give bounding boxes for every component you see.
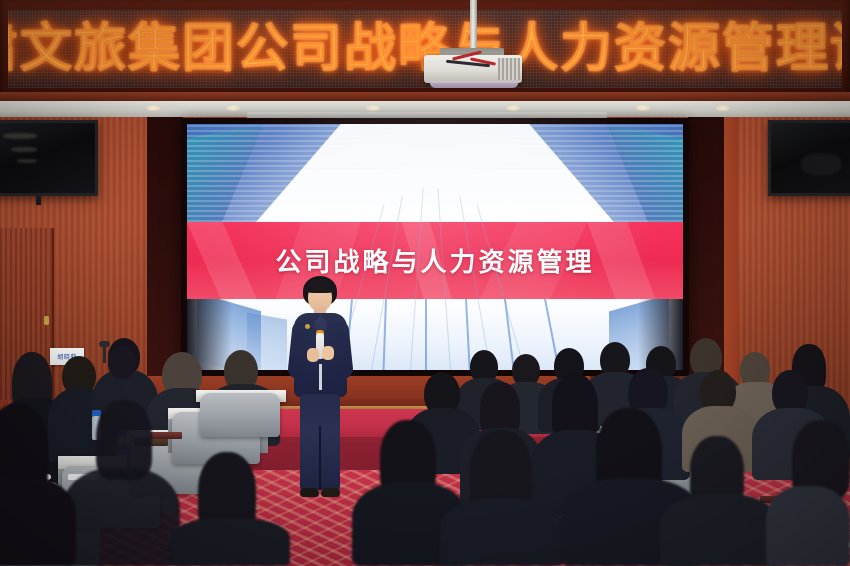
attendee-body-foreground [0, 476, 76, 566]
presenter-shoe-right [321, 488, 340, 497]
ceiling-downlight [366, 105, 380, 111]
ceiling-downlight [506, 105, 520, 111]
led-banner-frame: 甘肃文旅集团公司战略与人力资源管理讲座 [0, 0, 850, 100]
attendee-body-foreground [766, 486, 850, 566]
attendee-head [108, 346, 136, 379]
ceiling-downlight [146, 105, 160, 111]
attendee-body-foreground [660, 494, 780, 566]
presenter [278, 276, 362, 506]
table-microphone-stand [103, 345, 106, 363]
notebook [150, 432, 182, 439]
slide-title: 公司战略与人力资源管理 [187, 222, 683, 298]
presenter-leg-seam [319, 426, 321, 490]
monitor-stalk-left [36, 196, 41, 205]
display-monitor-right [768, 120, 850, 196]
display-monitor-left [0, 120, 98, 196]
presenter-hand-left [307, 348, 319, 362]
presenter-shoe-left [300, 488, 319, 497]
presenter-lanyard [319, 364, 322, 390]
led-banner-rail [0, 92, 850, 101]
presenter-pin-icon [305, 324, 310, 329]
projection-screen: 公司战略与人力资源管理 [187, 124, 683, 370]
door-handle-icon[interactable] [44, 316, 49, 325]
table-microphone-head [99, 341, 110, 347]
presenter-fringe [304, 280, 336, 293]
presenter-hand-right [322, 346, 334, 360]
conference-hall-photo: 甘肃文旅集团公司战略与人力资源管理讲座 公司战略与人力资源管理 [0, 0, 850, 566]
ceiling-downlight [716, 105, 730, 111]
projector-base-plate [430, 81, 518, 88]
projection-screen-bezel: 公司战略与人力资源管理 [181, 118, 689, 376]
attendee-body-foreground [170, 518, 290, 566]
ceiling-downlight [226, 105, 240, 111]
attendee-chair [200, 393, 280, 437]
projector-vent [498, 58, 520, 80]
ceiling-downlight [636, 105, 650, 111]
slide-scanline-overlay [187, 124, 683, 227]
attendee-body-foreground [62, 468, 180, 566]
attendee-body-foreground [440, 498, 564, 566]
